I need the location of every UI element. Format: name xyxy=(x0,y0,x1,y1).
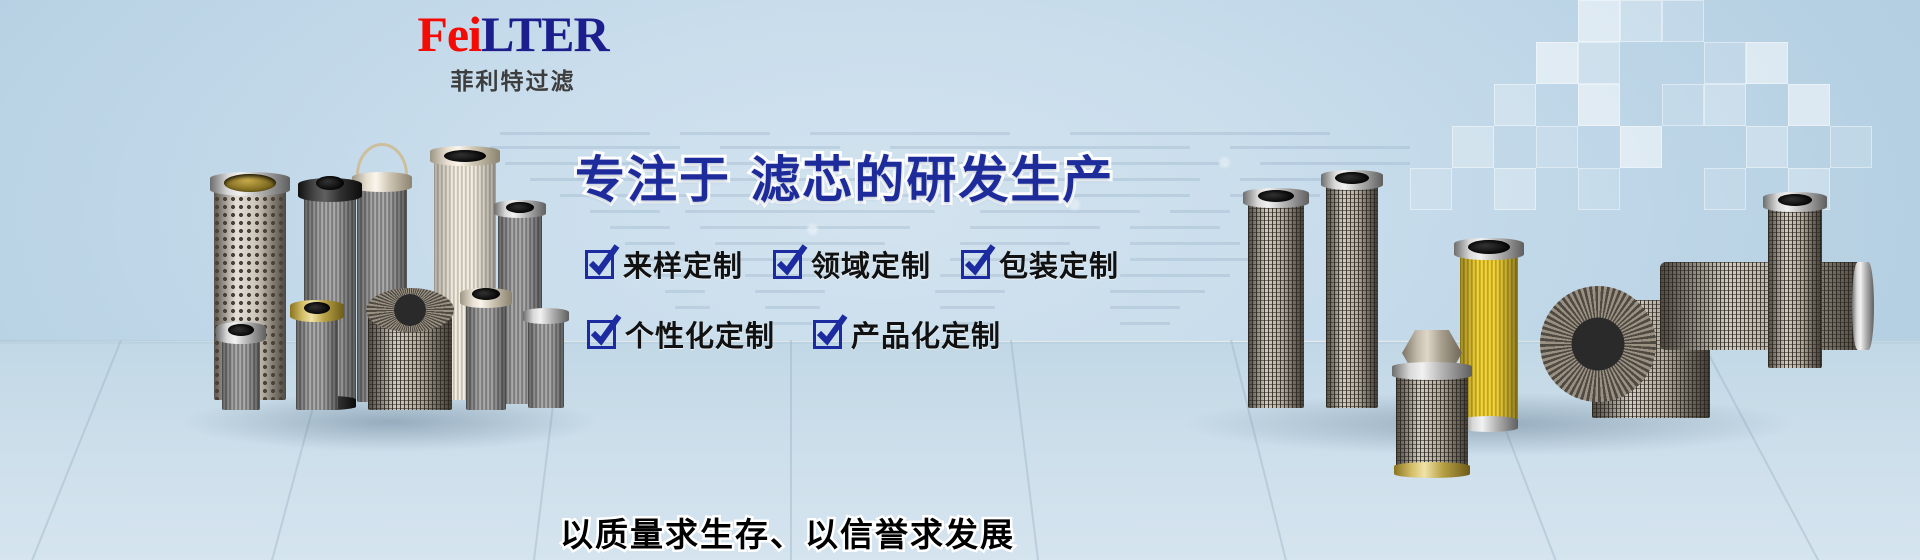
logo-wordmark-lter: LTER xyxy=(481,6,609,62)
end-cap xyxy=(210,172,290,196)
feature-label: 来样定制 xyxy=(623,243,743,285)
filter-cartridge xyxy=(1660,262,1870,350)
end-cap xyxy=(1852,262,1874,350)
promo-banner: FeiLTER 菲利特过滤 专注于 滤芯的研发生产 来样定制 领域定制 xyxy=(0,0,1920,560)
brand-logo[interactable]: FeiLTER 菲利特过滤 xyxy=(388,8,638,96)
feature-item-laiyang[interactable]: 来样定制 xyxy=(585,243,743,285)
feature-label: 包装定制 xyxy=(999,243,1119,285)
checkbox-checked-icon xyxy=(961,250,990,279)
checkbox-checked-icon xyxy=(585,250,614,279)
feature-label: 领域定制 xyxy=(811,243,931,285)
feature-item-chanpinhua[interactable]: 产品化定制 xyxy=(813,313,1001,355)
feature-label: 产品化定制 xyxy=(851,313,1001,355)
cartridge-bore xyxy=(316,176,344,190)
end-cap xyxy=(352,172,412,192)
feature-item-lingyu[interactable]: 领域定制 xyxy=(773,243,931,285)
feature-row-1: 来样定制 领域定制 包装定制 xyxy=(585,243,1205,285)
cartridge-bore xyxy=(224,174,276,192)
checkbox-checked-icon xyxy=(587,320,616,349)
feature-label: 个性化定制 xyxy=(625,313,775,355)
tagline-text: 以质量求生存、以信誉求发展 xyxy=(560,508,1015,556)
feature-row-2: 个性化定制 产品化定制 xyxy=(587,313,1205,355)
bail-handle xyxy=(356,143,408,175)
cartridge-bore xyxy=(304,302,330,314)
end-cap xyxy=(290,300,344,322)
headline-text: 专注于 滤芯的研发生产 xyxy=(575,140,1114,212)
feature-list: 来样定制 领域定制 包装定制 个性化定制 xyxy=(585,243,1205,355)
cartridge-bore xyxy=(228,324,254,336)
end-cap xyxy=(298,178,362,202)
checkbox-checked-icon xyxy=(813,320,842,349)
feature-item-baozhuang[interactable]: 包装定制 xyxy=(961,243,1119,285)
logo-wordmark-fei: Fei xyxy=(417,6,481,62)
cartridge-open-face xyxy=(366,288,454,332)
checkbox-checked-icon xyxy=(773,250,802,279)
logo-chinese-name: 菲利特过滤 xyxy=(388,62,638,96)
logo-wordmark: FeiLTER xyxy=(388,8,638,60)
feature-item-gexinghua[interactable]: 个性化定制 xyxy=(587,313,775,355)
